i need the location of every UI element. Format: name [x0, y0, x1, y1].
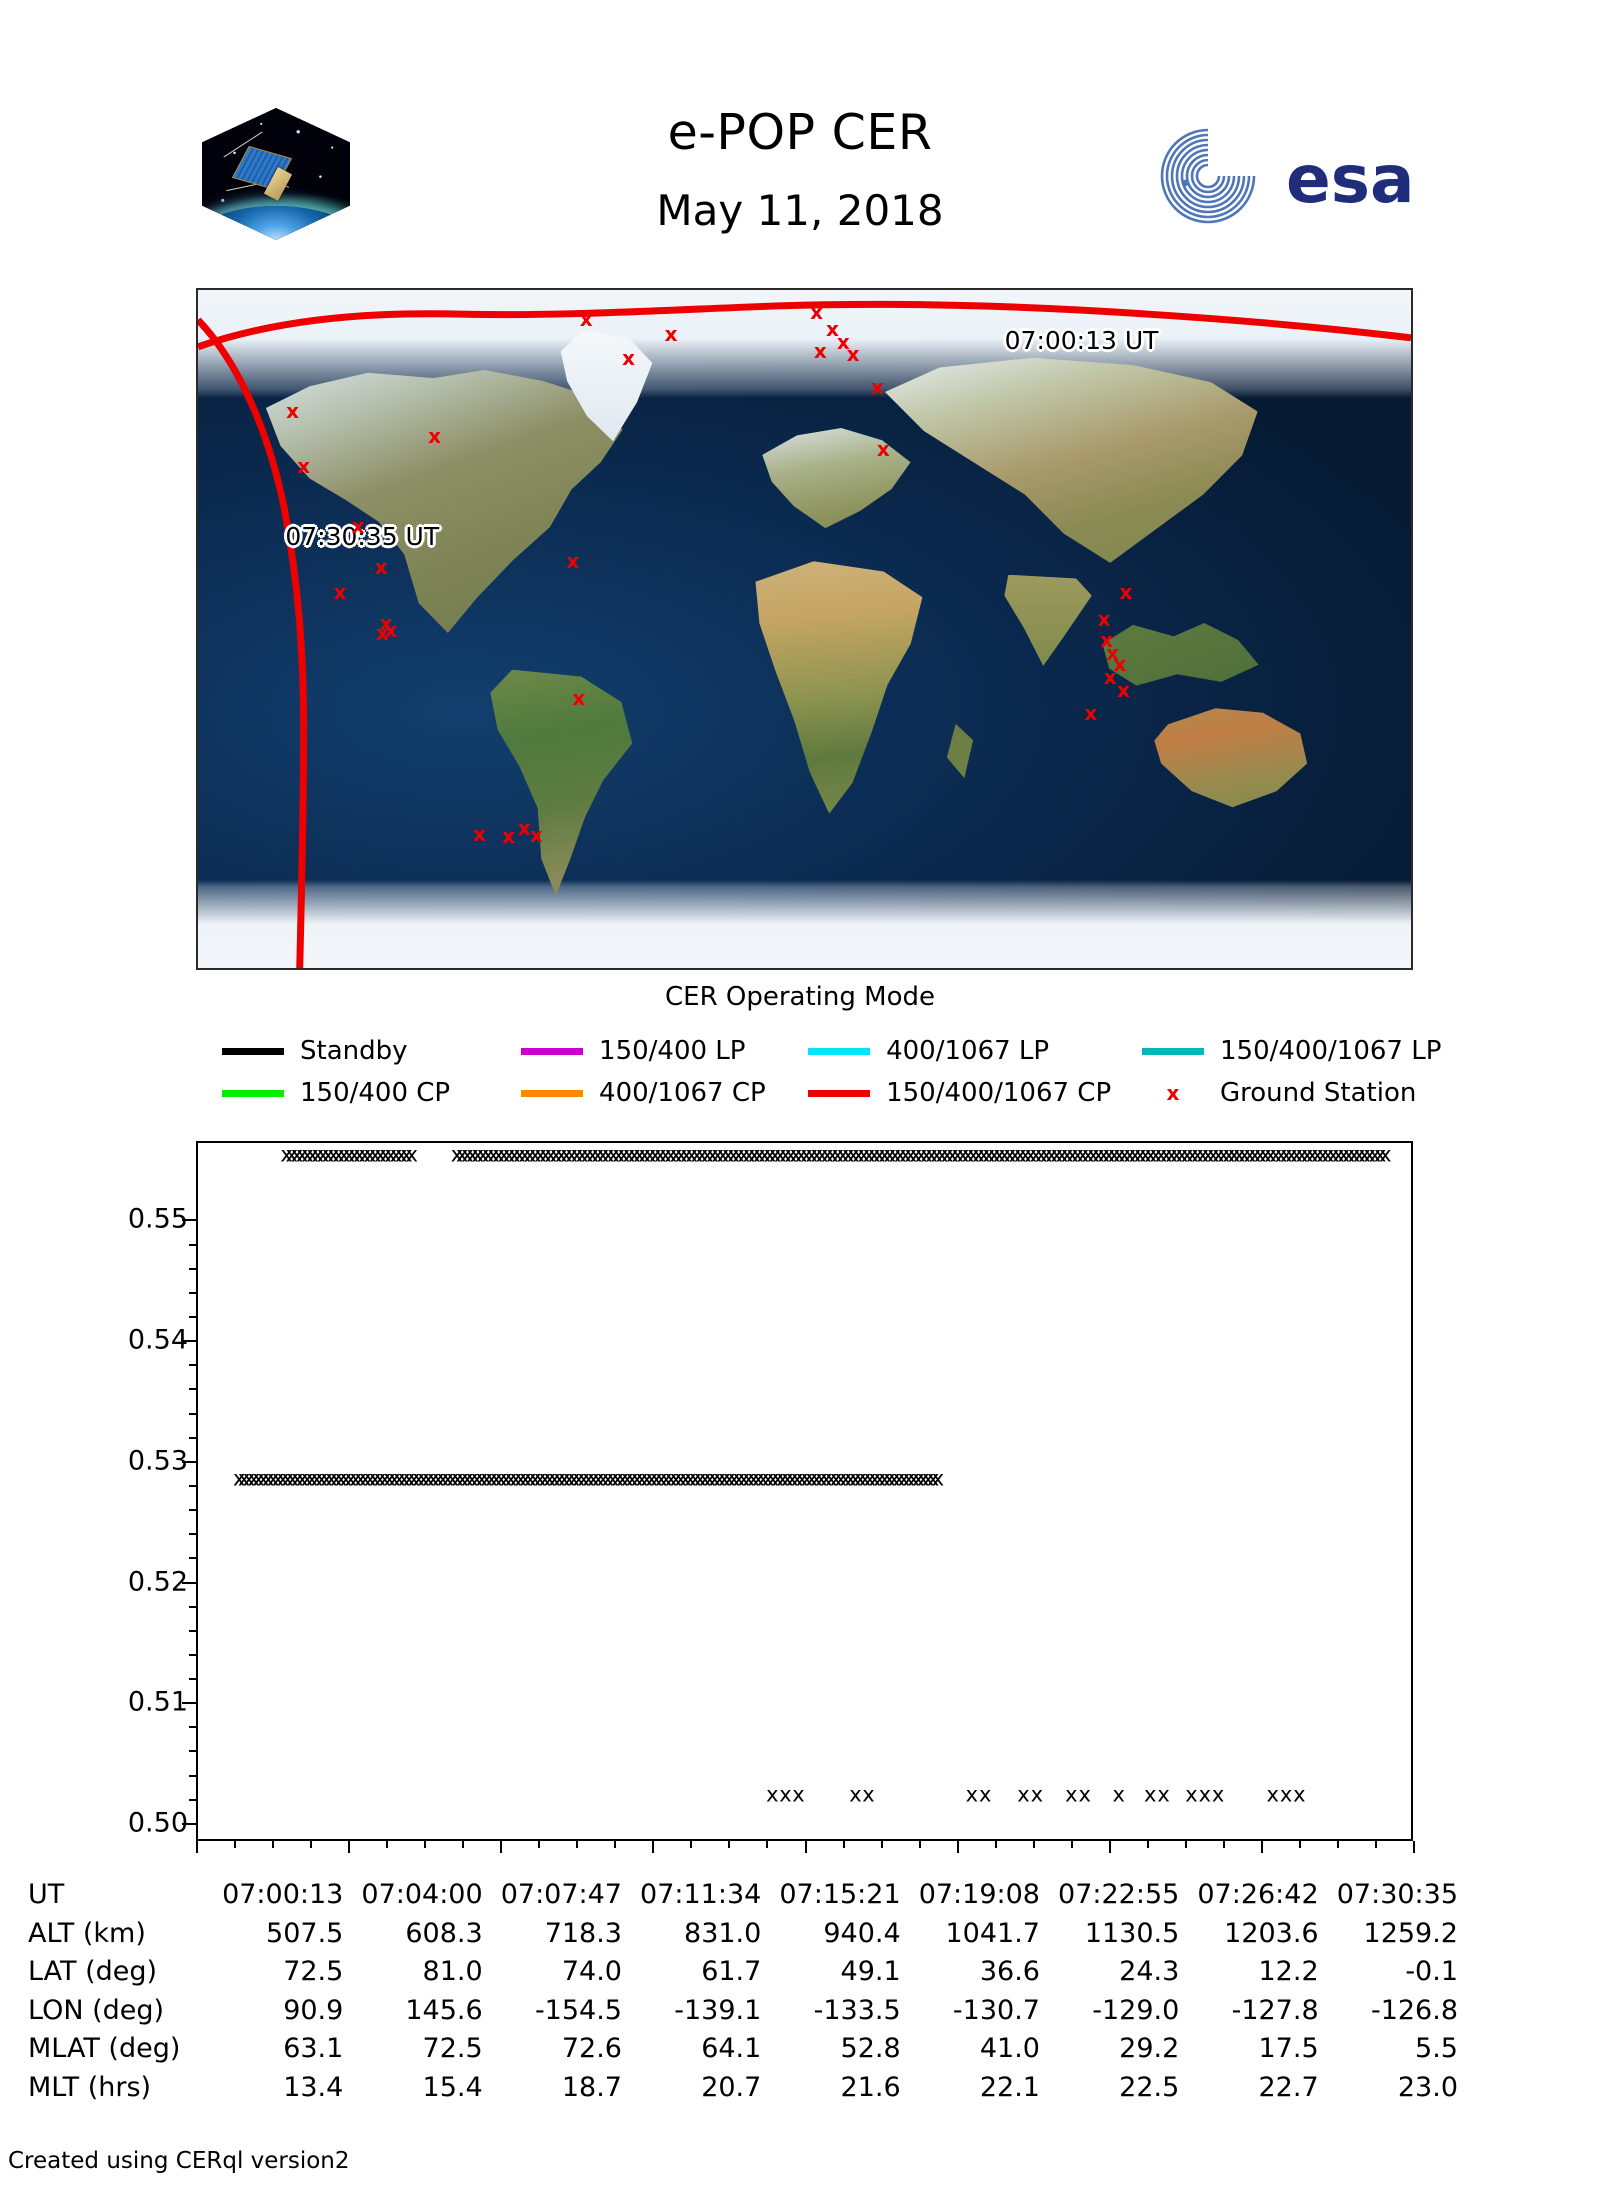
- legend-item-150-400-cp[interactable]: 150/400 CP: [222, 1078, 521, 1108]
- x-axis-minor-tick: [1337, 1841, 1339, 1848]
- table-cell: 81.0: [343, 1953, 482, 1992]
- ground-station-marker: x: [847, 344, 860, 364]
- x-axis-minor-tick: [1071, 1841, 1073, 1848]
- scatter-point: x: [1017, 1784, 1029, 1805]
- ground-station-marker: x: [814, 341, 827, 361]
- ephemeris-table-grid: UT07:00:1307:04:0007:07:4707:11:3407:15:…: [28, 1876, 1458, 2107]
- x-axis-tick: [348, 1841, 350, 1853]
- table-cell: 41.0: [901, 2030, 1040, 2069]
- scatter-point: x: [1199, 1784, 1211, 1805]
- ground-station-marker: x: [333, 582, 346, 602]
- scatter-point: x: [979, 1784, 991, 1805]
- table-cell: 61.7: [622, 1953, 761, 1992]
- table-row-header: MLAT (deg): [28, 2030, 204, 2069]
- table-cell: 18.7: [483, 2069, 622, 2108]
- table-cell: 20.7: [622, 2069, 761, 2108]
- legend-color-swatch: [521, 1048, 583, 1055]
- ground-station-marker: x: [286, 401, 299, 421]
- table-row: ALT (km)507.5608.3718.3831.0940.41041.71…: [28, 1915, 1458, 1954]
- x-axis-tick: [1109, 1841, 1111, 1853]
- table-cell: 29.2: [1040, 2030, 1179, 2069]
- x-axis-minor-tick: [1223, 1841, 1225, 1848]
- legend-title: CER Operating Mode: [0, 982, 1600, 1012]
- x-axis-tick: [805, 1841, 807, 1853]
- table-cell: 90.9: [204, 1992, 343, 2031]
- ground-station-marker: x: [572, 688, 585, 708]
- x-axis-minor-tick: [766, 1841, 768, 1848]
- ground-station-marker: x: [1117, 680, 1130, 700]
- table-cell: 22.7: [1179, 2069, 1318, 2108]
- table-cell: 1203.6: [1179, 1915, 1318, 1954]
- legend-item-150-400-1067-lp[interactable]: 150/400/1067 LP: [1142, 1036, 1402, 1066]
- legend-item-150-400-1067-cp[interactable]: 150/400/1067 CP: [808, 1078, 1142, 1108]
- table-cell: -127.8: [1179, 1992, 1318, 2031]
- table-cell: 608.3: [343, 1915, 482, 1954]
- table-cell: 1130.5: [1040, 1915, 1179, 1954]
- table-row-header: LAT (deg): [28, 1953, 204, 1992]
- legend-item-label: 400/1067 LP: [886, 1036, 1049, 1066]
- table-cell: -129.0: [1040, 1992, 1179, 2031]
- scatter-point: x: [792, 1784, 804, 1805]
- table-cell: 15.4: [343, 2069, 482, 2108]
- ground-station-marker: x: [502, 826, 515, 846]
- table-cell: 52.8: [761, 2030, 900, 2069]
- scatter-point: x: [966, 1784, 978, 1805]
- table-cell: 07:22:55: [1040, 1876, 1179, 1915]
- table-cell: -126.8: [1319, 1992, 1458, 2031]
- legend-item-label: Standby: [300, 1036, 408, 1066]
- esa-swirl-dot: [1182, 180, 1189, 187]
- legend-item-label: Ground Station: [1220, 1078, 1416, 1108]
- x-axis-minor-tick: [424, 1841, 426, 1848]
- ground-station-marker: x: [871, 377, 884, 397]
- ground-station-marker: x: [473, 824, 486, 844]
- y-axis-tick-label: 0.55: [128, 1204, 188, 1235]
- legend-item-label: 150/400/1067 CP: [886, 1078, 1111, 1108]
- legend-ground-station-marker-icon: x: [1142, 1081, 1204, 1105]
- cer-current-scatter-plot[interactable]: xxxxxxxxxxxxxxxxxxxxxxxxxxxxxxxxxxxxxxxx…: [196, 1141, 1413, 1841]
- ground-station-marker: x: [297, 456, 310, 476]
- table-cell: 507.5: [204, 1915, 343, 1954]
- table-cell: 07:00:13: [204, 1876, 343, 1915]
- esa-wordmark: esa: [1286, 141, 1415, 218]
- ground-station-marker: x: [622, 348, 635, 368]
- table-row: MLT (hrs)13.415.418.720.721.622.122.522.…: [28, 2069, 1458, 2108]
- table-cell: -133.5: [761, 1992, 900, 2031]
- scatter-point: x: [1266, 1784, 1278, 1805]
- legend-item-standby[interactable]: Standby: [222, 1036, 521, 1066]
- scatter-point: x: [766, 1784, 778, 1805]
- x-axis-minor-tick: [881, 1841, 883, 1848]
- legend-color-swatch: [808, 1048, 870, 1055]
- x-axis-minor-tick: [1185, 1841, 1187, 1848]
- x-axis-minor-tick: [728, 1841, 730, 1848]
- legend-item-label: 150/400 LP: [599, 1036, 745, 1066]
- table-cell: 940.4: [761, 1915, 900, 1954]
- table-cell: 07:04:00: [343, 1876, 482, 1915]
- table-cell: -0.1: [1319, 1953, 1458, 1992]
- table-cell: 74.0: [483, 1953, 622, 1992]
- ephemeris-table-body: UT07:00:1307:04:0007:07:4707:11:3407:15:…: [28, 1876, 1458, 2107]
- table-cell: 07:30:35: [1319, 1876, 1458, 1915]
- x-axis-minor-tick: [234, 1841, 236, 1848]
- table-cell: 63.1: [204, 2030, 343, 2069]
- legend-item-400-1067-lp[interactable]: 400/1067 LP: [808, 1036, 1142, 1066]
- ground-station-marker: x: [530, 825, 543, 845]
- y-axis-tick-label: 0.50: [128, 1807, 188, 1838]
- scatter-point: x: [1185, 1784, 1197, 1805]
- scatter-point: x: [1065, 1784, 1077, 1805]
- table-row: LON (deg)90.9145.6-154.5-139.1-133.5-130…: [28, 1992, 1458, 2031]
- x-axis-minor-tick: [995, 1841, 997, 1848]
- y-axis-tick-label: 0.54: [128, 1325, 188, 1356]
- scatter-point: x: [1379, 1145, 1391, 1166]
- table-row-header: UT: [28, 1876, 204, 1915]
- scatter-point: x: [1031, 1784, 1043, 1805]
- table-cell: 72.5: [343, 2030, 482, 2069]
- table-cell: 24.3: [1040, 1953, 1179, 1992]
- table-cell: 72.6: [483, 2030, 622, 2069]
- x-axis-minor-tick: [919, 1841, 921, 1848]
- scatter-point: x: [779, 1784, 791, 1805]
- table-cell: 07:26:42: [1179, 1876, 1318, 1915]
- table-cell: -130.7: [901, 1992, 1040, 2031]
- ground-station-marker: x: [1084, 703, 1097, 723]
- table-cell: 07:19:08: [901, 1876, 1040, 1915]
- x-axis-minor-tick: [1375, 1841, 1377, 1848]
- scatter-point: x: [406, 1145, 418, 1166]
- legend-item-400-1067-cp[interactable]: 400/1067 CP: [521, 1078, 808, 1108]
- map-start-time-label: 07:00:13 UT: [1005, 326, 1159, 355]
- table-cell: -154.5: [483, 1992, 622, 2031]
- ground-station-marker: x: [877, 439, 890, 459]
- x-axis-tick: [957, 1841, 959, 1853]
- y-axis-tick-label: 0.51: [128, 1687, 188, 1718]
- table-cell: 21.6: [761, 2069, 900, 2108]
- table-row-header: ALT (km): [28, 1915, 204, 1954]
- x-axis-tick: [1413, 1841, 1415, 1853]
- x-axis-minor-tick: [1299, 1841, 1301, 1848]
- ground-station-marker: x: [375, 557, 388, 577]
- scatter-point: x: [1144, 1784, 1156, 1805]
- scatter-point: x: [862, 1784, 874, 1805]
- ground-station-marker: x: [1104, 667, 1117, 687]
- x-axis-minor-tick: [843, 1841, 845, 1848]
- svg-text:esa: esa: [1286, 141, 1415, 218]
- ground-track-world-map[interactable]: 07:00:13 UT 07:30:35 UT xxxxxxxxxxxxxxxx…: [196, 288, 1413, 970]
- x-axis-minor-tick: [1147, 1841, 1149, 1848]
- scatter-point: x: [1078, 1784, 1090, 1805]
- legend-color-swatch: [1142, 1048, 1204, 1055]
- ground-station-marker: x: [810, 302, 823, 322]
- ground-station-marker: x: [428, 426, 441, 446]
- x-axis-minor-tick: [614, 1841, 616, 1848]
- table-cell: 22.5: [1040, 2069, 1179, 2108]
- ground-station-marker: x: [665, 324, 678, 344]
- legend-row: Standby150/400 LP400/1067 LP150/400/1067…: [222, 1030, 1402, 1072]
- x-axis-tick: [500, 1841, 502, 1853]
- table-cell: 07:07:47: [483, 1876, 622, 1915]
- table-cell: 1259.2: [1319, 1915, 1458, 1954]
- table-cell: 831.0: [622, 1915, 761, 1954]
- ground-station-marker: x: [580, 309, 593, 329]
- ground-station-marker: x: [566, 551, 579, 571]
- legend-item-ground-station[interactable]: xGround Station: [1142, 1078, 1402, 1108]
- table-row: MLAT (deg)63.172.572.664.152.841.029.217…: [28, 2030, 1458, 2069]
- scatter-point: x: [1112, 1784, 1124, 1805]
- scatter-point: x: [932, 1469, 944, 1490]
- table-row-header: MLT (hrs): [28, 2069, 204, 2108]
- scatter-point: x: [1157, 1784, 1169, 1805]
- ground-station-marker: x: [352, 516, 365, 536]
- ground-station-marker: x: [376, 623, 389, 643]
- footer-credit: Created using CERql version2: [8, 2148, 350, 2174]
- x-axis-minor-tick: [310, 1841, 312, 1848]
- ephemeris-table: UT07:00:1307:04:0007:07:4707:11:3407:15:…: [28, 1876, 1458, 2107]
- table-cell: 22.1: [901, 2069, 1040, 2108]
- plot-data-area: xxxxxxxxxxxxxxxxxxxxxxxxxxxxxxxxxxxxxxxx…: [198, 1143, 1411, 1839]
- legend-item-150-400-lp[interactable]: 150/400 LP: [521, 1036, 808, 1066]
- table-cell: 17.5: [1179, 2030, 1318, 2069]
- legend-color-swatch: [222, 1090, 284, 1097]
- esa-swirl-icon: [1162, 130, 1254, 222]
- y-axis-tick-label: 0.52: [128, 1566, 188, 1597]
- table-row: UT07:00:1307:04:0007:07:4707:11:3407:15:…: [28, 1876, 1458, 1915]
- legend-row: 150/400 CP400/1067 CP150/400/1067 CPxGro…: [222, 1072, 1402, 1114]
- table-cell: 72.5: [204, 1953, 343, 1992]
- table-cell: 23.0: [1319, 2069, 1458, 2108]
- table-cell: 07:11:34: [622, 1876, 761, 1915]
- table-cell: 1041.7: [901, 1915, 1040, 1954]
- legend-color-swatch: [808, 1090, 870, 1097]
- legend-color-swatch: [222, 1048, 284, 1055]
- map-canvas: 07:00:13 UT 07:30:35 UT xxxxxxxxxxxxxxxx…: [198, 290, 1411, 968]
- scatter-point: x: [1280, 1784, 1292, 1805]
- legend-color-swatch: [521, 1090, 583, 1097]
- table-cell: 13.4: [204, 2069, 343, 2108]
- scatter-point: x: [1293, 1784, 1305, 1805]
- table-cell: 64.1: [622, 2030, 761, 2069]
- esa-logo: esa: [1158, 126, 1468, 226]
- legend-item-label: 150/400 CP: [300, 1078, 450, 1108]
- page-header: e-POP CER May 11, 2018 esa: [0, 0, 1600, 280]
- table-cell: 49.1: [761, 1953, 900, 1992]
- ground-station-marker: x: [1119, 582, 1132, 602]
- x-axis-minor-tick: [538, 1841, 540, 1848]
- x-axis-minor-tick: [386, 1841, 388, 1848]
- table-cell: -139.1: [622, 1992, 761, 2031]
- x-axis-minor-tick: [690, 1841, 692, 1848]
- table-cell: 145.6: [343, 1992, 482, 2031]
- table-cell: 36.6: [901, 1953, 1040, 1992]
- table-cell: 07:15:21: [761, 1876, 900, 1915]
- x-axis-minor-tick: [462, 1841, 464, 1848]
- table-row-header: LON (deg): [28, 1992, 204, 2031]
- x-axis-minor-tick: [1033, 1841, 1035, 1848]
- x-axis-tick: [196, 1841, 198, 1853]
- table-cell: 718.3: [483, 1915, 622, 1954]
- x-axis-minor-tick: [576, 1841, 578, 1848]
- table-row: LAT (deg)72.581.074.061.749.136.624.312.…: [28, 1953, 1458, 1992]
- legend-item-label: 400/1067 CP: [599, 1078, 766, 1108]
- scatter-point: x: [849, 1784, 861, 1805]
- ground-station-marker: x: [1098, 609, 1111, 629]
- x-axis-tick: [652, 1841, 654, 1853]
- table-cell: 5.5: [1319, 2030, 1458, 2069]
- ground-station-marker: x: [518, 818, 531, 838]
- table-cell: 12.2: [1179, 1953, 1318, 1992]
- y-axis-tick-label: 0.53: [128, 1445, 188, 1476]
- legend-item-label: 150/400/1067 LP: [1220, 1036, 1441, 1066]
- x-axis-minor-tick: [272, 1841, 274, 1848]
- scatter-point: x: [1212, 1784, 1224, 1805]
- x-axis-tick: [1261, 1841, 1263, 1853]
- cer-mode-legend: Standby150/400 LP400/1067 LP150/400/1067…: [222, 1030, 1402, 1114]
